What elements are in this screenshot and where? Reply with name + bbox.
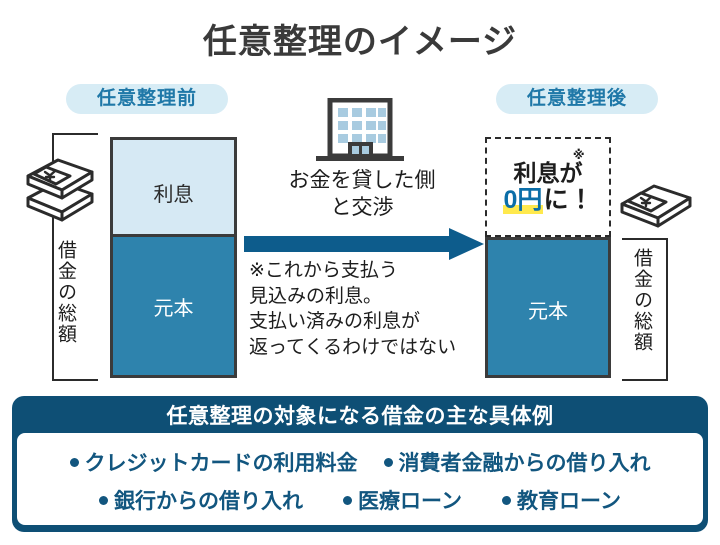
zero-interest-text: 利息が <box>514 160 583 186</box>
list-item: クレジットカードの利用料金 <box>70 447 358 477</box>
zero-amount-suffix: に！ <box>543 186 593 214</box>
reference-mark-icon: ※ <box>573 149 585 161</box>
list-item-label: 教育ローン <box>517 485 621 515</box>
list-item-label: 銀行からの借り入れ <box>114 485 303 515</box>
zero-amount-highlight: 0円 <box>503 186 544 214</box>
footnote-text: ※これから支払う 見込みの利息。 支払い済みの利息が 返ってくるわけではない <box>249 258 479 361</box>
bar-label-principal-before: 元本 <box>113 292 234 321</box>
list-item-label: クレジットカードの利用料金 <box>85 447 358 477</box>
footnote-line-2: 見込みの利息。 <box>249 284 479 310</box>
examples-panel-body: クレジットカードの利用料金 消費者金融からの借り入れ 銀行からの借り入れ 医療ロ… <box>17 433 703 525</box>
examples-row-1: クレジットカードの利用料金 消費者金融からの借り入れ <box>31 443 689 481</box>
list-item: 教育ローン <box>502 485 621 515</box>
negotiation-caption-line1: お金を貸した側 <box>246 168 478 195</box>
bar-label-principal-after: 元本 <box>488 295 608 324</box>
bar-segment-principal-after: 元本 <box>485 237 611 378</box>
footnote-line-1: ※これから支払う <box>249 258 479 284</box>
negotiation-caption: お金を貸した側 と交渉 <box>246 168 478 222</box>
label-before-pill: 任意整理前 <box>66 84 228 114</box>
bullet-dot-icon <box>502 496 511 505</box>
examples-row-2: 銀行からの借り入れ 医療ローン 教育ローン <box>31 481 689 519</box>
examples-panel: 任意整理の対象になる借金の主な具体例 クレジットカードの利用料金 消費者金融から… <box>12 396 708 532</box>
zero-interest-line2: 0円に！ <box>503 188 594 213</box>
money-stack-icon <box>22 152 98 229</box>
infographic-root: 任意整理のイメージ 任意整理前 借金の総額 利息 元 <box>0 0 720 545</box>
bullet-dot-icon <box>343 496 352 505</box>
footnote-line-3: 支払い済みの利息が <box>249 309 479 335</box>
list-item: 銀行からの借り入れ <box>99 485 303 515</box>
footnote-line-4: 返ってくるわけではない <box>249 335 479 361</box>
list-item-label: 消費者金融からの借り入れ <box>399 447 651 477</box>
zero-interest-callout: 利息が ※ 0円に！ <box>485 137 611 237</box>
vertical-label-total-debt-after: 借金の総額 <box>632 248 651 353</box>
bullet-dot-icon <box>99 496 108 505</box>
office-building-icon <box>312 98 408 171</box>
bullet-dot-icon <box>384 458 393 467</box>
vertical-label-total-debt-before: 借金の総額 <box>56 240 75 345</box>
page-title: 任意整理のイメージ <box>0 14 720 63</box>
bar-label-interest: 利息 <box>113 178 234 207</box>
negotiation-caption-line2: と交渉 <box>246 195 478 222</box>
zero-interest-line1: 利息が ※ <box>514 162 583 185</box>
list-item: 消費者金融からの借り入れ <box>384 447 651 477</box>
list-item: 医療ローン <box>343 485 462 515</box>
label-after-pill: 任意整理後 <box>496 84 658 114</box>
bar-segment-interest-before: 利息 <box>110 137 237 237</box>
bullet-dot-icon <box>70 458 79 467</box>
examples-panel-heading: 任意整理の対象になる借金の主な具体例 <box>17 401 703 433</box>
bar-segment-principal-before: 元本 <box>110 237 237 378</box>
money-stack-icon-after <box>616 178 696 235</box>
list-item-label: 医療ローン <box>358 485 462 515</box>
